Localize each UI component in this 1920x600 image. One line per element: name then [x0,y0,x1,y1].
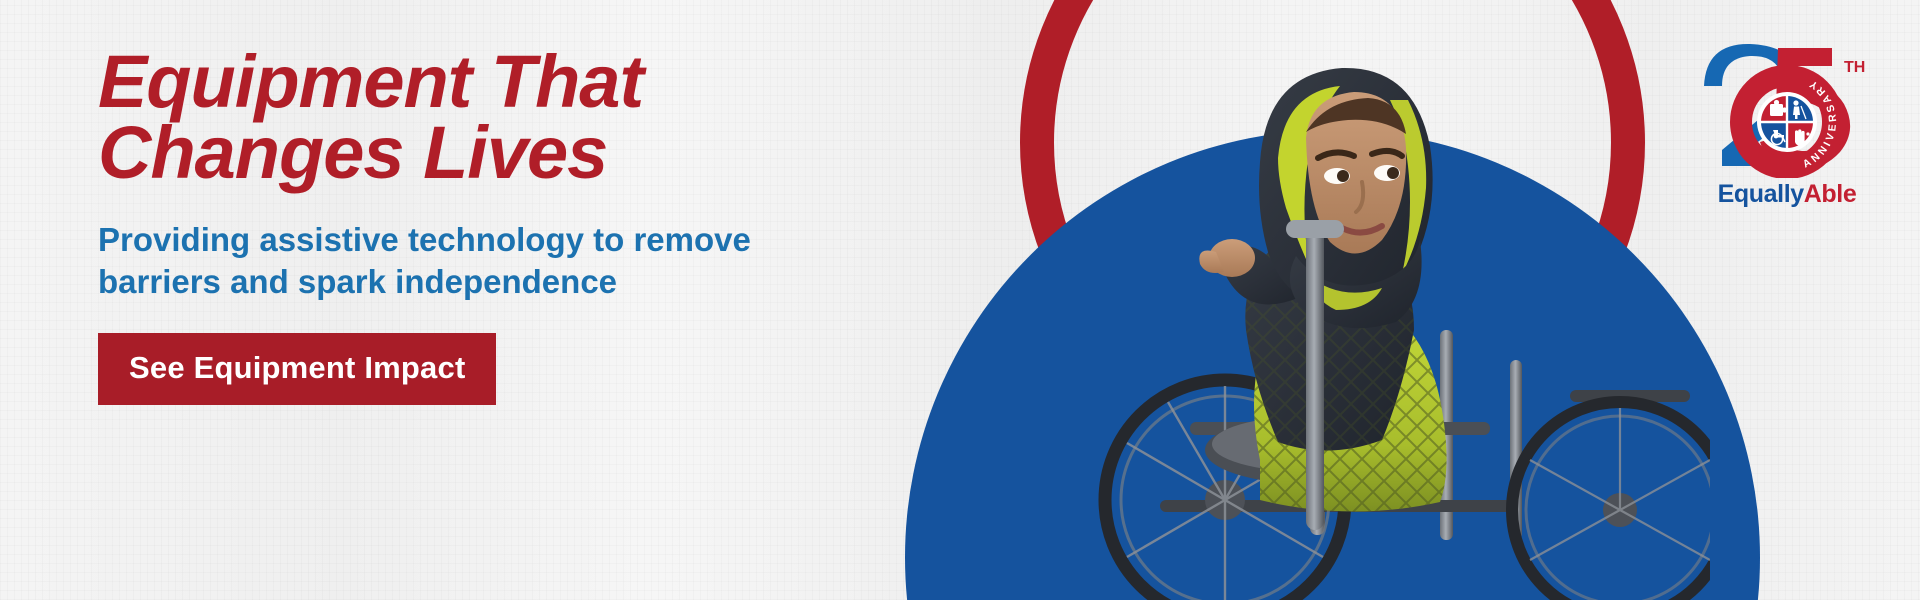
anniversary-25-mark: TH ANNIVERSARY [1692,38,1882,178]
logo-svg: TH ANNIVERSARY [1692,38,1882,178]
hero-banner: Equipment That Changes Lives Providing a… [0,0,1920,600]
page-title: Equipment That Changes Lives [98,46,798,188]
photo-svg [1010,30,1710,600]
hero-subtitle: Providing assistive technology to remove… [98,219,798,302]
wordmark-able: Able [1804,180,1857,208]
wheelchair-rear-wheel-right [1512,402,1710,600]
see-equipment-impact-button[interactable]: See Equipment Impact [98,333,496,405]
logo-wordmark: EquallyAble [1692,180,1882,209]
hero-photo-woman-in-wheelchair [1010,30,1710,600]
logo-ordinal-th: TH [1844,59,1865,76]
hero-text-block: Equipment That Changes Lives Providing a… [98,46,798,405]
equallyable-logo[interactable]: TH ANNIVERSARY [1692,38,1882,218]
wordmark-equally: Equally [1718,180,1804,208]
accessibility-badge [1757,92,1817,152]
